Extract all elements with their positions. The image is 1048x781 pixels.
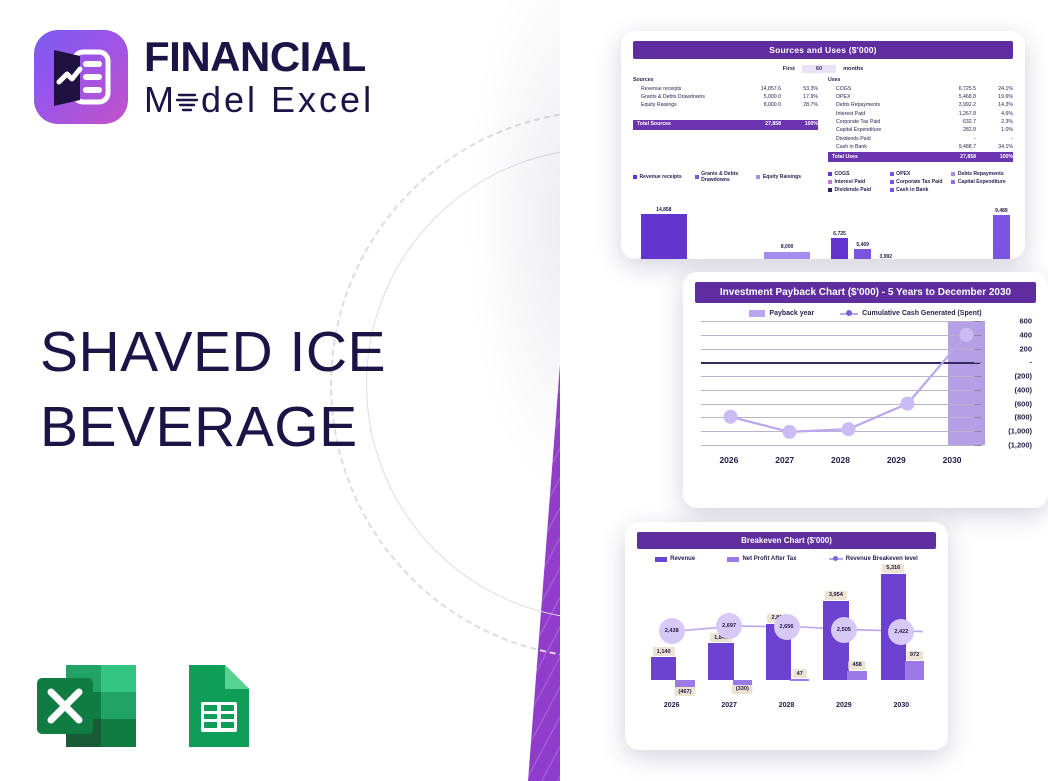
row-value: 1,267.8 (921, 110, 977, 118)
card-sources-and-uses: Sources and Uses ($'000) First 60 months… (621, 31, 1025, 259)
bar-value-label: 8,000 (781, 244, 794, 250)
row-percent: 34.1% (976, 143, 1013, 151)
npat-value-label: (330) (732, 685, 753, 694)
sources-total-row: Total Sources 27,858 100% (633, 120, 818, 130)
y-axis-label: (400) (1014, 385, 1032, 394)
bar-rect (641, 214, 687, 259)
brand-logo: FINANCIAL M del Excel (34, 30, 374, 124)
npat-bar (790, 679, 810, 681)
sources-chart-legend: Revenue receiptsGrants & Debts Drawdowns… (633, 171, 818, 185)
row-percent: 2.3% (976, 118, 1013, 126)
breakeven-level-bubble: 2,505 (831, 617, 857, 643)
sources-total-label: Total Sources (633, 120, 726, 130)
bar-column: 8,000 (764, 199, 810, 259)
brand-line-2-post: del Excel (201, 82, 374, 118)
x-axis-label: 2026 (643, 694, 700, 716)
legend-label: COGS (835, 171, 850, 177)
row-percent: 17.9% (781, 93, 818, 101)
legend-label: Revenue receipts (640, 174, 682, 180)
legend-npat-label: Net Profit After Tax (742, 556, 796, 562)
bar-column: 14,858 (641, 199, 687, 259)
legend-item: Revenue receipts (633, 171, 695, 183)
x-axis-label: 2029 (868, 447, 924, 471)
row-percent: 19.6% (976, 93, 1013, 101)
breakeven-legend: Revenue Net Profit After Tax Revenue Bre… (639, 556, 934, 562)
row-percent: 53.3% (781, 85, 818, 93)
npat-value-label: 458 (848, 661, 865, 670)
row-label: OPEX (828, 93, 921, 101)
y-axis-tick (974, 362, 982, 363)
table-row: Corporate Tax Paid632.72.3% (828, 118, 1013, 126)
table-row: COGS6,725.524.1% (828, 85, 1013, 93)
y-axis-tick (974, 390, 982, 391)
sources-spacer (633, 110, 818, 119)
sources-rows: Revenue receipts14,857.653.3%Grants & De… (633, 85, 818, 110)
mini-chart-legends: Revenue receiptsGrants & Debts Drawdowns… (633, 166, 1013, 195)
bar-column: 6,725 (831, 199, 848, 259)
bar-value-label: 6,725 (833, 231, 846, 237)
row-value: 6,725.5 (921, 85, 977, 93)
uses-total-row: Total Uses 27,858 100% (828, 152, 1013, 162)
y-axis-label: 600 (1019, 317, 1032, 326)
legend-swatch-icon (695, 175, 699, 179)
bar-value-label: 5,469 (856, 242, 869, 248)
revenue-bar (651, 657, 676, 680)
legend-cumulative-cash: Cumulative Cash Generated (Spent) (840, 310, 981, 317)
sources-uses-title: Sources and Uses ($'000) (633, 41, 1013, 59)
legend-swatch-icon (890, 172, 894, 176)
breakeven-level-bubble: 2,656 (774, 614, 800, 640)
bar-value-label: 9,489 (995, 208, 1008, 214)
x-axis-label: 2027 (757, 447, 813, 471)
table-row: Cash in Bank9,488.734.1% (828, 143, 1013, 151)
sources-total-value: 27,858 (726, 120, 782, 130)
legend-swatch-icon (633, 175, 637, 179)
table-row: Capital Expenditure282.01.0% (828, 126, 1013, 134)
y-axis-label: - (1030, 358, 1033, 367)
x-axis-label: 2026 (701, 447, 757, 471)
row-label: Revenue receipts (633, 85, 726, 93)
breakeven-x-axis: 20262027202820292030 (643, 694, 930, 716)
breakeven-level-bubble: 2,697 (716, 613, 742, 639)
legend-item: Debts Repayments (951, 171, 1013, 177)
brand-line-2: M del Excel (144, 82, 374, 118)
legend-item: Equity Raisings (756, 171, 818, 183)
row-percent: 4.6% (976, 110, 1013, 118)
gridline (701, 445, 980, 446)
legend-swatch-icon (890, 188, 894, 192)
table-row: Equity Raisings8,000.028.7% (633, 102, 818, 110)
x-axis-label: 2030 (924, 447, 980, 471)
bar-rect (764, 252, 810, 259)
y-axis-label: (1,000) (1008, 427, 1032, 436)
legend-label: Equity Raisings (763, 174, 801, 180)
period-prefix-label: First (783, 66, 795, 72)
bar-column: 3,992 (877, 199, 894, 259)
sources-header: Sources (633, 77, 818, 83)
page-title: SHAVED ICE BEVERAGE (40, 315, 470, 465)
bar-group: 2,814472,656 (758, 568, 815, 692)
row-label: Debts Repayments (828, 102, 921, 110)
payback-legend: Payback year Cumulative Cash Generated (… (695, 310, 1036, 317)
financial-model-excel-logo-icon (34, 30, 128, 124)
legend-swatch-icon (756, 175, 760, 179)
revenue-value-label: 1,140 (653, 647, 675, 656)
y-axis-tick (974, 349, 982, 350)
google-sheets-icon (184, 660, 254, 752)
legend-breakeven-level: Revenue Breakeven level (829, 556, 918, 562)
legend-label: OPEX (896, 171, 910, 177)
row-percent: 24.1% (976, 85, 1013, 93)
legend-payback-year-label: Payback year (769, 310, 814, 317)
bar-column: 5,000 (702, 199, 748, 259)
cumulative-cash-line (701, 321, 996, 445)
x-axis-label: 2029 (815, 694, 872, 716)
sources-total-pct: 100% (781, 120, 818, 130)
data-point-marker (724, 410, 738, 424)
legend-npat: Net Profit After Tax (727, 556, 796, 562)
revenue-swatch-icon (655, 557, 667, 562)
cumulative-cash-line-swatch-icon (840, 313, 858, 315)
row-value: 3,992.2 (921, 102, 977, 110)
period-selector: First 60 months (633, 65, 1013, 73)
breakeven-level-bubble: 2,438 (659, 618, 685, 644)
mini-bar-charts: 14,8585,0008,000 6,7255,4693,9921,268633… (633, 199, 1013, 259)
legend-label: Dividends Paid (835, 187, 872, 193)
row-label: Capital Expenditure (828, 126, 921, 134)
row-label: Grants & Debts Drawdowns (633, 93, 726, 101)
legend-label: Cash in Bank (896, 187, 928, 193)
brand-line-2-pre: M (144, 82, 174, 118)
row-label: Interest Paid (828, 110, 921, 118)
legend-item: Interest Paid (828, 179, 890, 185)
legend-label: Interest Paid (835, 179, 866, 185)
x-axis-label: 2028 (758, 694, 815, 716)
sources-bar-chart: 14,8585,0008,000 (633, 199, 818, 259)
table-row: Debts Repayments3,992.214.3% (828, 102, 1013, 110)
period-suffix-label: months (843, 66, 863, 72)
x-axis-label: 2030 (873, 694, 930, 716)
legend-item: Dividends Paid (828, 187, 890, 193)
payback-y-axis: 600400200-(200)(400)(600)(800)(1,000)(1,… (982, 321, 1032, 445)
row-label: COGS (828, 85, 921, 93)
brand-line-1: FINANCIAL (144, 36, 374, 78)
y-axis-label: (800) (1014, 413, 1032, 422)
npat-bar (905, 661, 925, 680)
bar-rect (993, 215, 1010, 259)
table-row: OPEX5,468.819.6% (828, 93, 1013, 101)
uses-table: Uses COGS6,725.524.1%OPEX5,468.819.6%Deb… (828, 77, 1013, 162)
legend-label: Corporate Tax Paid (896, 179, 942, 185)
bar-group: 5,3169722,422 (873, 568, 930, 692)
row-label: Dividends Paid (828, 135, 921, 143)
legend-swatch-icon (828, 172, 832, 176)
npat-swatch-icon (727, 557, 739, 562)
bar-value-label: 3,992 (880, 254, 893, 259)
revenue-value-label: 3,954 (825, 591, 847, 600)
row-value: 8,000.0 (726, 102, 782, 110)
legend-item: Corporate Tax Paid (890, 179, 952, 185)
legend-label: Grants & Debts Drawdowns (701, 171, 756, 183)
uses-total-pct: 100% (976, 152, 1013, 162)
breakeven-line-swatch-icon (829, 558, 843, 560)
y-axis-label: 200 (1019, 344, 1032, 353)
x-axis-label: 2027 (700, 694, 757, 716)
payback-year-swatch-icon (749, 310, 765, 317)
npat-value-label: 972 (906, 651, 923, 660)
bar-value-label: 14,858 (656, 207, 671, 213)
row-value: 9,488.7 (921, 143, 977, 151)
y-axis-label: (1,200) (1008, 441, 1032, 450)
y-axis-tick (974, 404, 982, 405)
data-point-marker (960, 328, 974, 342)
row-value: 5,000.0 (726, 93, 782, 101)
legend-label: Capital Expenditure (958, 179, 1006, 185)
legend-item: Cash in Bank (890, 187, 952, 193)
y-axis-label: (600) (1014, 399, 1032, 408)
legend-swatch-icon (951, 172, 955, 176)
legend-item: Capital Expenditure (951, 179, 1013, 185)
payback-x-axis: 20262027202820292030 (701, 447, 980, 471)
bar-column: 1,268 (900, 199, 917, 259)
y-axis-tick (974, 431, 982, 432)
row-value: 632.7 (921, 118, 977, 126)
legend-swatch-icon (828, 188, 832, 192)
uses-bar-chart: 6,7255,4693,9921,26863328209,489 (828, 199, 1013, 259)
legend-label: Debts Repayments (958, 171, 1004, 177)
row-value: 14,857.6 (726, 85, 782, 93)
data-point-marker (783, 425, 797, 439)
npat-value-label: 47 (793, 669, 807, 678)
revenue-value-label: 5,316 (882, 564, 904, 573)
payback-plot: 600400200-(200)(400)(600)(800)(1,000)(1,… (701, 321, 1032, 471)
row-percent: 14.3% (976, 102, 1013, 110)
bar-group: 3,9544582,505 (815, 568, 872, 692)
legend-item: OPEX (890, 171, 952, 177)
legend-breakeven-level-label: Revenue Breakeven level (846, 556, 918, 562)
uses-header: Uses (828, 77, 1013, 83)
data-point-marker (901, 397, 915, 411)
table-row: Grants & Debts Drawdowns5,000.017.9% (633, 93, 818, 101)
bar-rect (831, 238, 848, 259)
bar-group: 1,140(467)2,438 (643, 568, 700, 692)
legend-revenue: Revenue (655, 556, 695, 562)
sliders-o-icon (174, 85, 200, 115)
sources-table: Sources Revenue receipts14,857.653.3%Gra… (633, 77, 818, 162)
platform-icons (34, 660, 254, 752)
legend-swatch-icon (828, 180, 832, 184)
y-axis-label: (200) (1014, 372, 1032, 381)
y-axis-tick (974, 376, 982, 377)
y-axis-tick (974, 417, 982, 418)
uses-chart-legend: COGSOPEXDebts RepaymentsInterest PaidCor… (828, 171, 1013, 195)
y-axis-tick (974, 321, 982, 322)
row-value: 5,468.8 (921, 93, 977, 101)
uses-total-value: 27,858 (921, 152, 977, 162)
legend-revenue-label: Revenue (670, 556, 695, 562)
bar-column: 282 (947, 199, 964, 259)
bar-column: 0 (970, 199, 987, 259)
legend-item: Grants & Debts Drawdowns (695, 171, 757, 183)
bar-column: 9,489 (993, 199, 1010, 259)
breakeven-plot: 1,140(467)2,4381,848(330)2,6972,814472,6… (643, 568, 930, 716)
legend-cumulative-cash-label: Cumulative Cash Generated (Spent) (862, 310, 981, 317)
row-value: - (921, 135, 977, 143)
y-axis-tick (974, 445, 982, 446)
card-investment-payback: Investment Payback Chart ($'000) - 5 Yea… (683, 272, 1048, 508)
x-axis-label: 2028 (813, 447, 869, 471)
y-axis-label: 400 (1019, 330, 1032, 339)
breakeven-title: Breakeven Chart ($'000) (637, 532, 936, 549)
legend-item: COGS (828, 171, 890, 177)
row-percent: 1.0% (976, 126, 1013, 134)
microsoft-excel-icon (34, 660, 142, 752)
promo-slide: FINANCIAL M del Excel SHAVED ICE BEVERAG… (0, 0, 1048, 781)
logo-glyph-icon (34, 30, 128, 124)
bar-column: 633 (924, 199, 941, 259)
row-label: Corporate Tax Paid (828, 118, 921, 126)
table-row: Interest Paid1,267.84.6% (828, 110, 1013, 118)
uses-total-label: Total Uses (828, 152, 921, 162)
table-row: Revenue receipts14,857.653.3% (633, 85, 818, 93)
legend-swatch-icon (890, 180, 894, 184)
row-percent: 28.7% (781, 102, 818, 110)
row-label: Cash in Bank (828, 143, 921, 151)
row-percent: - (976, 135, 1013, 143)
legend-payback-year: Payback year (749, 310, 814, 317)
card-breakeven: Breakeven Chart ($'000) Revenue Net Prof… (625, 522, 948, 750)
table-row: Dividends Paid-- (828, 135, 1013, 143)
period-months-input[interactable]: 60 (802, 65, 836, 73)
revenue-bar (708, 643, 733, 680)
npat-bar (847, 671, 867, 680)
bar-column: 5,469 (854, 199, 871, 259)
breakeven-level-bubble: 2,422 (888, 619, 914, 645)
payback-title: Investment Payback Chart ($'000) - 5 Yea… (695, 282, 1036, 303)
row-label: Equity Raisings (633, 102, 726, 110)
legend-swatch-icon (951, 180, 955, 184)
uses-rows: COGS6,725.524.1%OPEX5,468.819.6%Debts Re… (828, 85, 1013, 151)
bar-rect (854, 249, 871, 259)
data-point-marker (842, 422, 856, 436)
sources-uses-tables: Sources Revenue receipts14,857.653.3%Gra… (633, 77, 1013, 162)
bar-group: 1,848(330)2,697 (700, 568, 757, 692)
y-axis-tick (974, 335, 982, 336)
row-value: 282.0 (921, 126, 977, 134)
